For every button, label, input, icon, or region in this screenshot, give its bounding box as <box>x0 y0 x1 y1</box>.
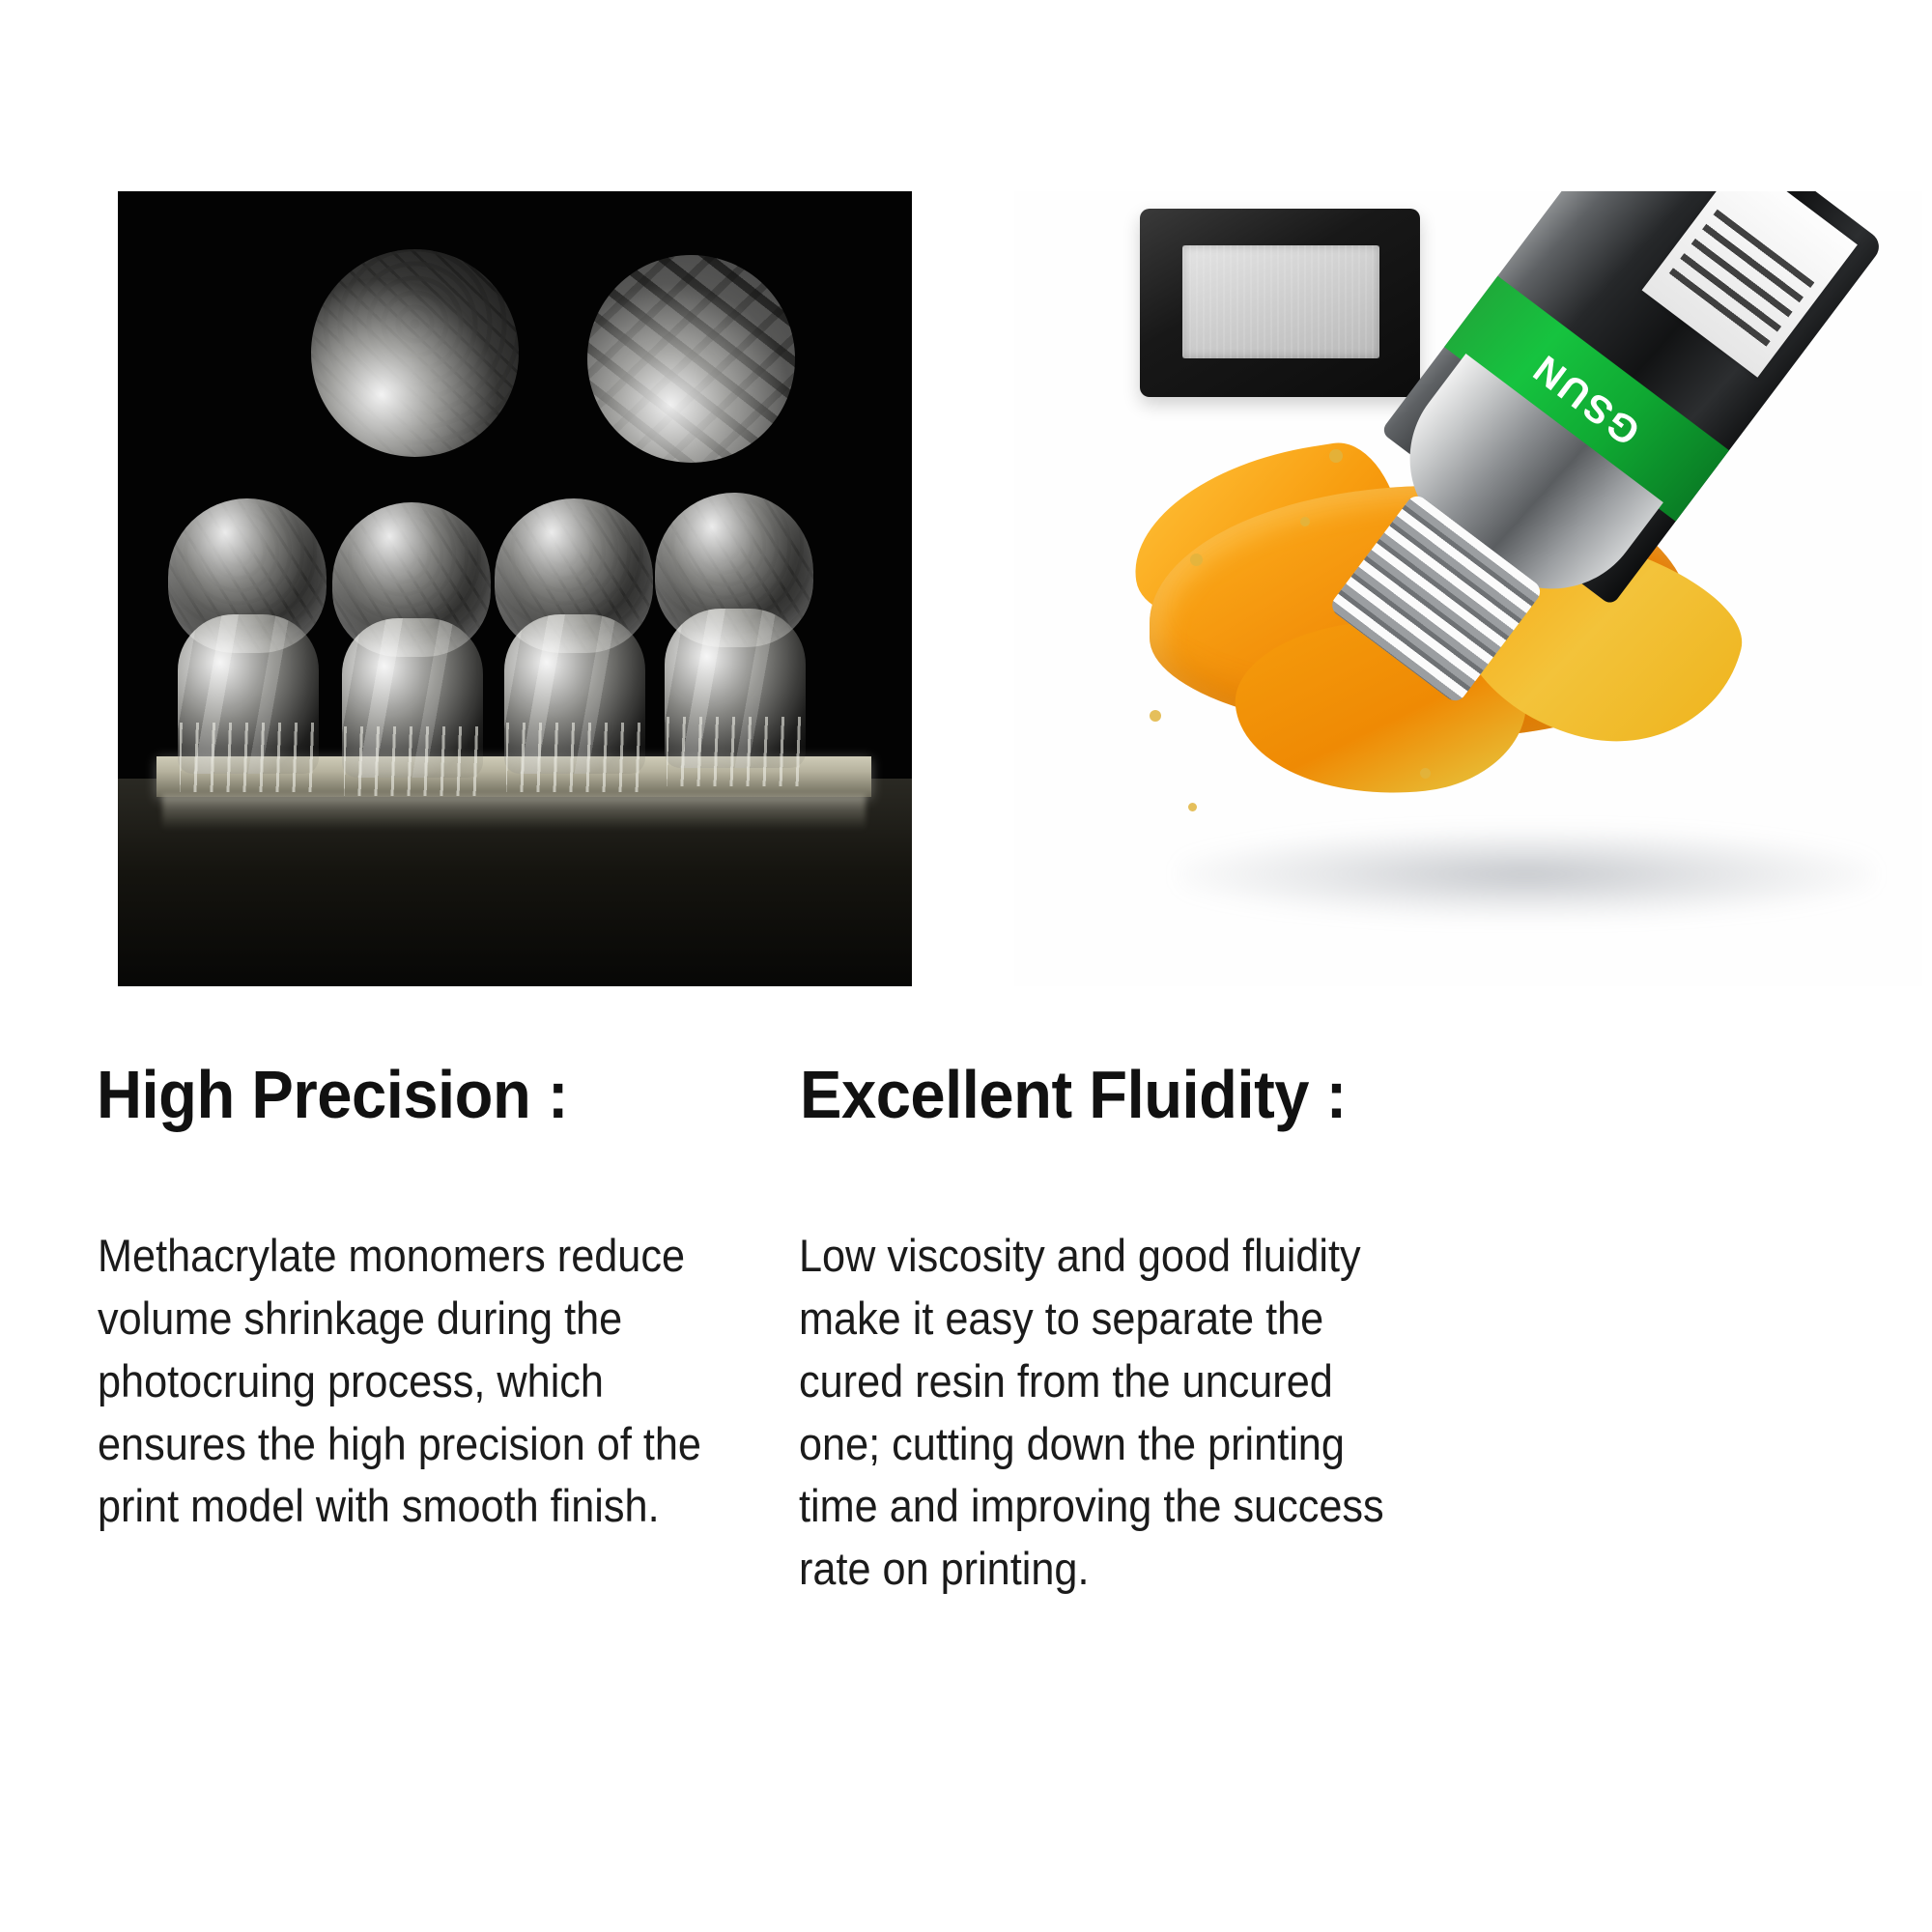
resin-droplet <box>1329 449 1343 463</box>
resin-droplet <box>1188 803 1197 811</box>
resin-droplet <box>1150 710 1161 722</box>
model-supports <box>180 723 317 792</box>
column-high-precision: High Precision : Methacrylate monomers r… <box>0 0 966 1932</box>
printed-model-4 <box>651 493 817 782</box>
heading-high-precision: High Precision : <box>97 1061 568 1128</box>
resin-vat <box>1140 209 1420 397</box>
body-high-precision: Methacrylate monomers reduce volume shri… <box>98 1225 755 1538</box>
printed-model-1 <box>164 498 330 788</box>
model-supports <box>667 717 804 786</box>
3d-printed-lattice-spheres-photo <box>118 191 912 986</box>
printed-model-3 <box>491 498 657 788</box>
vat-fep-film <box>1182 245 1379 358</box>
printed-model-2 <box>328 502 495 792</box>
lattice-sphere-back-left <box>311 249 519 457</box>
product-shadow <box>1179 830 1874 919</box>
resin-bottle-pour-photo: GSUN <box>1014 191 1922 986</box>
resin-droplet <box>1190 554 1203 566</box>
page-root: High Precision : Methacrylate monomers r… <box>0 0 1932 1932</box>
model-supports <box>506 723 643 792</box>
column-excellent-fluidity: GSUN Excellent Fluidity : Low viscosity … <box>966 0 1932 1932</box>
lattice-sphere-back-right <box>587 255 795 463</box>
resin-droplet <box>1420 768 1431 779</box>
body-excellent-fluidity: Low viscosity and good fluidity make it … <box>799 1225 1421 1601</box>
model-supports <box>344 726 481 796</box>
heading-excellent-fluidity: Excellent Fluidity : <box>800 1061 1347 1128</box>
bottle-label-text-lines <box>1662 210 1814 355</box>
